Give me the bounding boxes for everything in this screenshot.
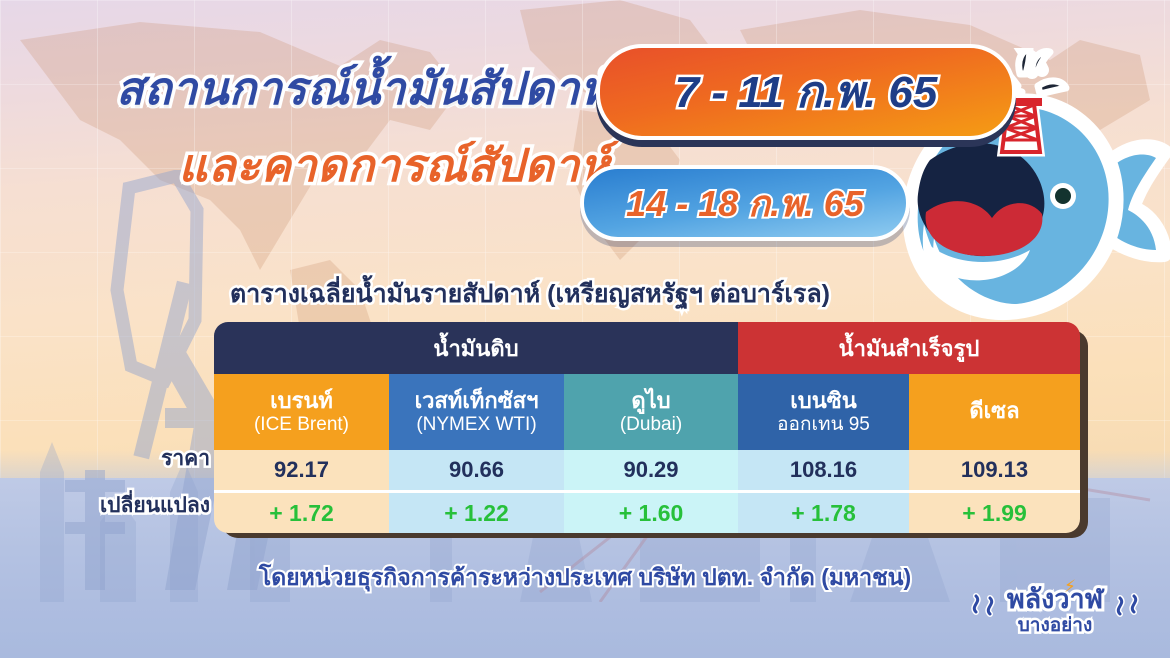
price-diesel: 109.13 [909, 450, 1080, 490]
column-header-wti-en: (NYMEX WTI) [416, 415, 536, 436]
price-wti: 90.66 [389, 450, 564, 490]
price-brent: 92.17 [214, 450, 389, 490]
change-gasoline: + 1.78 [738, 493, 909, 533]
column-header-dubai: ดูไบ (Dubai) [564, 374, 738, 450]
column-header-gasoline-en: ออกเทน 95 [777, 415, 870, 436]
column-header-gasoline: เบนซิน ออกเทน 95 [738, 374, 909, 450]
table-row-labels: ราคา เปลี่ยนแปลง [60, 448, 210, 516]
date-badge-current-week: 7 - 11 ก.พ. 65 [596, 44, 1016, 140]
change-brent: + 1.72 [214, 493, 389, 533]
brand-name: พลังวาฬ ⚡ [960, 586, 1150, 613]
brand-tagline: บางอย่าง [960, 616, 1150, 635]
change-wti: + 1.22 [389, 493, 564, 533]
column-header-brent: เบรนท์ (ICE Brent) [214, 374, 389, 450]
headline-block: สถานการณ์น้ำมันสัปดาห์ และคาดการณ์สัปดาห… [0, 62, 610, 192]
date-badge-forecast-week-label: 14 - 18 ก.พ. 65 [626, 175, 864, 232]
group-header-crude: น้ำมันดิบ [214, 322, 738, 374]
change-diesel: + 1.99 [909, 493, 1080, 533]
column-header-dubai-en: (Dubai) [620, 415, 682, 436]
date-badge-current-week-label: 7 - 11 ก.พ. 65 [675, 57, 938, 127]
headline-line-1: สถานการณ์น้ำมันสัปดาห์ [0, 62, 610, 115]
row-label-price: ราคา [60, 448, 210, 469]
table-column-header-row: เบรนท์ (ICE Brent) เวสท์เท็กซัสฯ (NYMEX … [214, 374, 1080, 450]
column-header-diesel-th: ดีเซล [969, 399, 1019, 423]
change-dubai: + 1.60 [564, 493, 738, 533]
oil-price-table: น้ำมันดิบ น้ำมันสำเร็จรูป เบรนท์ (ICE Br… [214, 322, 1080, 533]
column-header-brent-th: เบรนท์ [270, 389, 333, 413]
brand-logo: พลังวาฬ ⚡ บางอย่าง [960, 586, 1150, 648]
brand-name-label: พลังวาฬ [1007, 584, 1103, 614]
column-header-dubai-th: ดูไบ [631, 389, 670, 413]
table-row: 92.17 90.66 90.29 108.16 109.13 [214, 450, 1080, 490]
lightning-bolt-icon: ⚡ [1064, 578, 1076, 595]
column-header-wti: เวสท์เท็กซัสฯ (NYMEX WTI) [389, 374, 564, 450]
date-badge-forecast-week: 14 - 18 ก.พ. 65 [580, 165, 910, 241]
table-row: + 1.72 + 1.22 + 1.60 + 1.78 + 1.99 [214, 490, 1080, 533]
column-header-wti-th: เวสท์เท็กซัสฯ [415, 389, 539, 413]
column-header-brent-en: (ICE Brent) [254, 415, 349, 436]
headline-line-2: และคาดการณ์สัปดาห์ [0, 139, 610, 192]
row-label-change: เปลี่ยนแปลง [60, 495, 210, 516]
infographic-canvas: สถานการณ์น้ำมันสัปดาห์ และคาดการณ์สัปดาห… [0, 0, 1170, 658]
price-gasoline: 108.16 [738, 450, 909, 490]
column-header-gasoline-th: เบนซิน [790, 389, 857, 413]
price-dubai: 90.29 [564, 450, 738, 490]
column-header-diesel: ดีเซล [909, 374, 1080, 450]
